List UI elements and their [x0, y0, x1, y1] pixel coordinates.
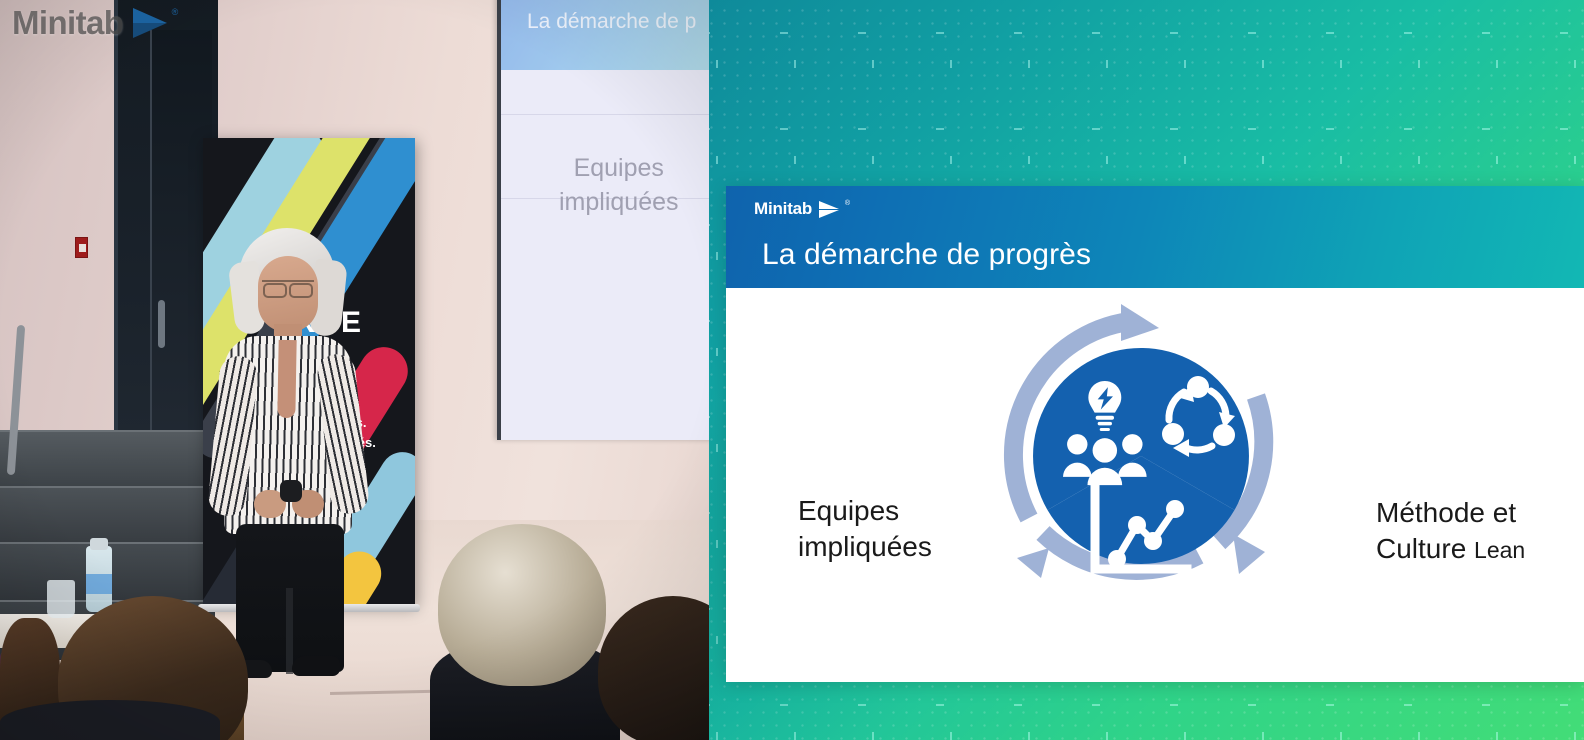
progress-approach-diagram: Equipes impliquées Méthode et Culture Le… [726, 288, 1584, 682]
presenter-shoe-right [292, 656, 340, 676]
step [0, 486, 215, 542]
slide-body: Equipes impliquées Méthode et Culture Le… [726, 288, 1584, 682]
water-bottle-cap [90, 538, 108, 550]
label-methode-line2: Culture Lean [1376, 531, 1584, 567]
presenter-shirt-opening [277, 340, 296, 418]
fire-alarm-box [75, 237, 88, 258]
logo-triangle-top [133, 8, 167, 23]
slide-title: La démarche de progrès [762, 238, 1091, 272]
audience-head [438, 524, 606, 686]
minitab-arrow-logo-icon: ® [133, 8, 175, 38]
audience-shoulders [0, 700, 220, 740]
presenter-leg-gap [286, 588, 293, 674]
slide-brand-logo: Minitab ® [754, 199, 843, 219]
speaker-video-panel: NGE ...ées. ...utions. ...sibilités. [0, 0, 709, 740]
label-equipes-impliquees: Equipes impliquées [798, 493, 988, 566]
logo-triangle-bottom [819, 210, 839, 218]
label-equipes-line1: Equipes [798, 493, 988, 529]
presenter-clicker [280, 480, 302, 502]
label-methode-line1: Méthode et [1376, 495, 1584, 531]
water-bottle-label [86, 574, 112, 594]
step [0, 430, 215, 486]
presenter-glasses [262, 280, 314, 292]
slide-brand-text: Minitab [754, 199, 812, 219]
presenter-figure [196, 228, 386, 678]
label-lean: Lean [1474, 537, 1525, 563]
label-methode-culture-lean: Méthode et Culture Lean [1376, 495, 1584, 568]
watermark-brand-text: Minitab [12, 4, 123, 42]
projector-overexposure-veil [501, 0, 709, 440]
registered-trademark-icon: ® [845, 200, 850, 207]
door-handle [158, 300, 165, 348]
slide-header: Minitab ® La démarche de progrès [726, 186, 1584, 288]
three-segment-cycle-diagram [971, 286, 1311, 626]
registered-trademark-icon: ® [172, 7, 179, 17]
logo-triangle-top [819, 201, 839, 209]
presentation-stage: NGE ...ées. ...utions. ...sibilités. [0, 0, 1584, 740]
minitab-watermark: Minitab ® [12, 4, 175, 42]
drinking-glass [47, 580, 75, 618]
label-equipes-line2: impliquées [798, 529, 988, 565]
label-culture: Culture [1376, 533, 1466, 564]
logo-triangle-bottom [133, 23, 167, 38]
slide-card: Minitab ® La démarche de progrès [726, 186, 1584, 682]
projected-screen: Minitab La démarche de p Equipes impliqu… [497, 0, 709, 440]
minitab-arrow-logo-icon: ® [819, 201, 843, 218]
